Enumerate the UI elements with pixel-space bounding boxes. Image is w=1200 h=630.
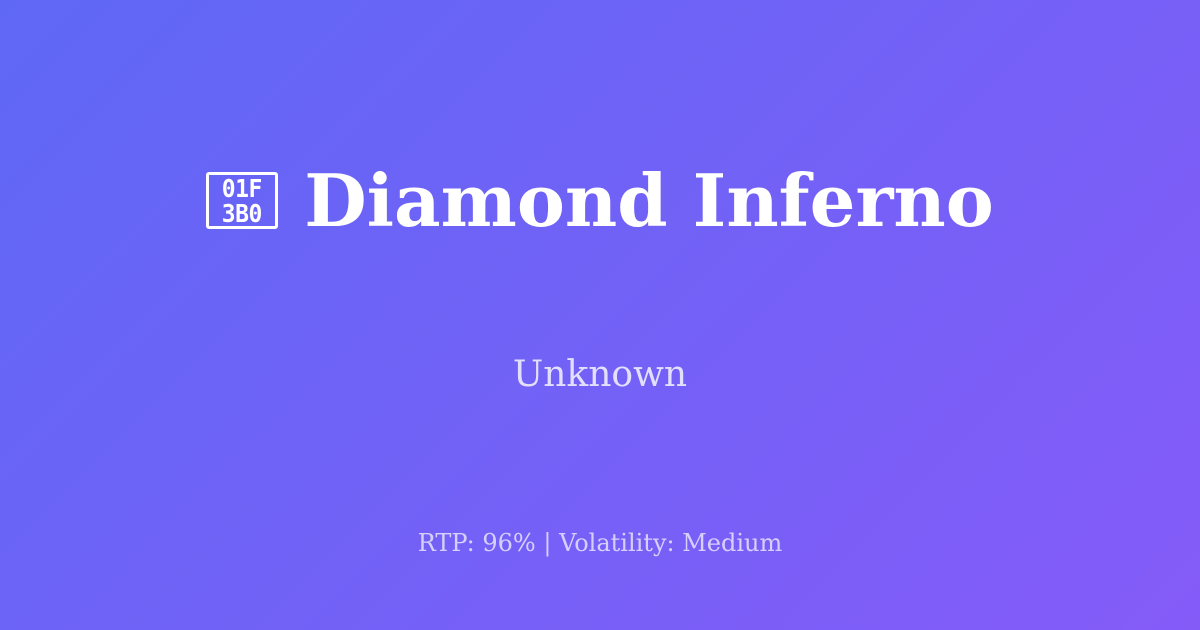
headline-block: 01F 3B0 Diamond Inferno Unknown <box>0 0 1200 545</box>
emoji-codepoint-bottom: 3B0 <box>222 201 262 226</box>
page-title: Diamond Inferno <box>304 159 994 243</box>
game-stats-line: RTP: 96% | Volatility: Medium <box>0 528 1200 558</box>
game-preview-card: 01F 3B0 Diamond Inferno Unknown RTP: 96%… <box>0 0 1200 630</box>
emoji-codepoint-top: 01F <box>222 176 262 201</box>
slot-machine-emoji-icon: 01F 3B0 <box>206 172 278 229</box>
title-line: 01F 3B0 Diamond Inferno <box>206 110 994 290</box>
game-provider-label: Unknown <box>513 353 687 397</box>
